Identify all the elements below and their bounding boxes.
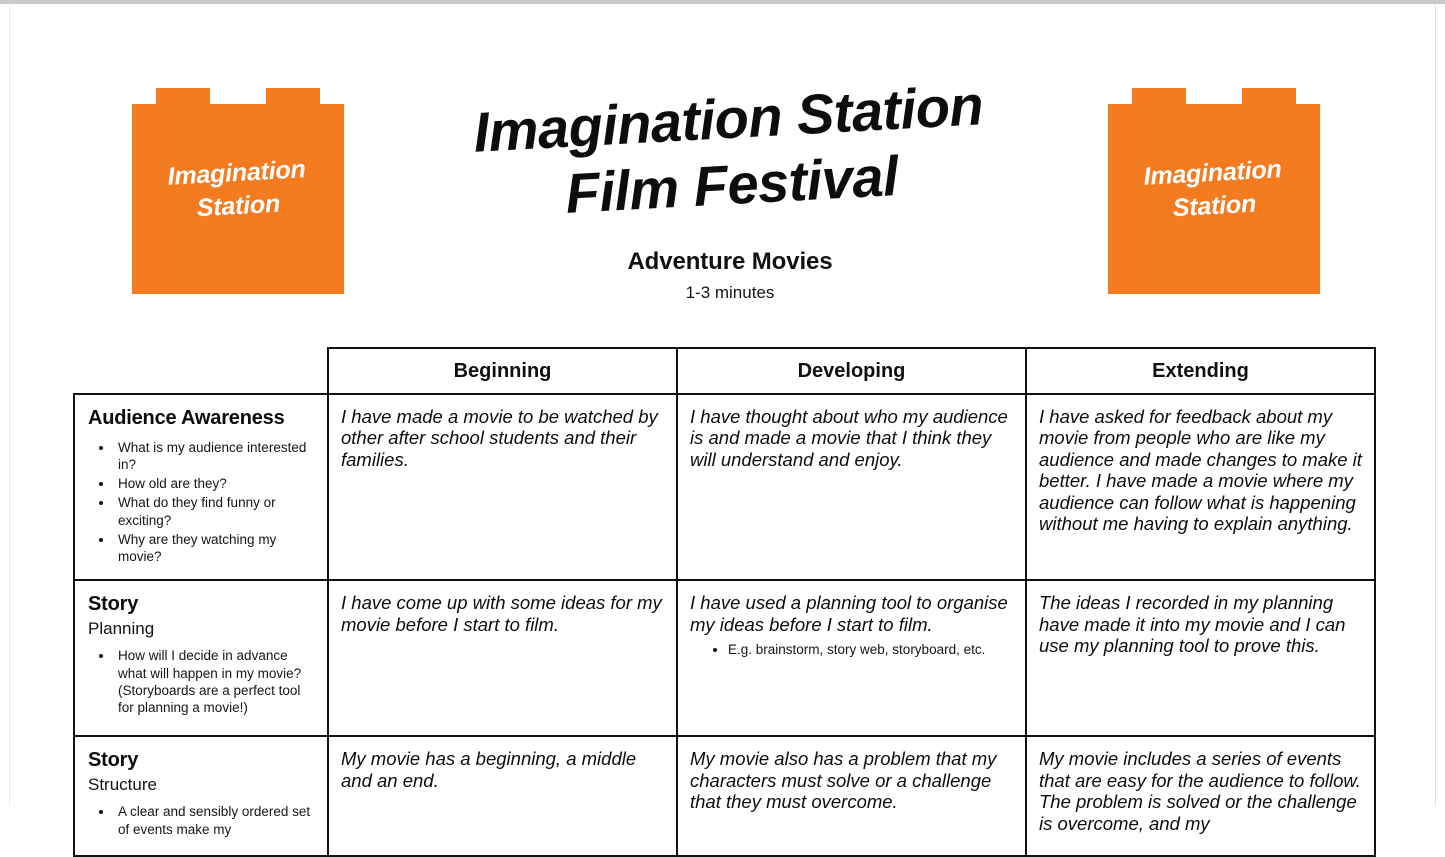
table-row: Audience Awareness What is my audience i… [74, 394, 1375, 580]
logo-right: Imagination Station [1108, 88, 1320, 294]
cell-extending: The ideas I recorded in my planning have… [1026, 580, 1375, 736]
criteria-title: Story [88, 593, 317, 617]
brick-body: Imagination Station [1108, 104, 1320, 294]
level-text: My movie also has a problem that my char… [690, 748, 1013, 812]
level-point-list: E.g. brainstorm, story web, storyboard, … [690, 641, 1013, 659]
table-row: Story Structure A clear and sensibly ord… [74, 736, 1375, 856]
table-row: Story Planning How will I decide in adva… [74, 580, 1375, 736]
page-sheet: Imagination Station Imagination Station … [9, 4, 1436, 806]
level-text: I have used a planning tool to organise … [690, 592, 1013, 635]
cell-developing: I have used a planning tool to organise … [677, 580, 1026, 736]
cell-beginning: My movie has a beginning, a middle and a… [328, 736, 677, 856]
brick-stud-icon [266, 88, 320, 105]
brick-stud-icon [1242, 88, 1296, 105]
criteria-cell-story-structure: Story Structure A clear and sensibly ord… [74, 736, 328, 856]
cell-extending: My movie includes a series of events tha… [1026, 736, 1375, 856]
level-text: My movie has a beginning, a middle and a… [341, 748, 664, 791]
level-text: My movie includes a series of events tha… [1039, 748, 1362, 834]
brick-stud-icon [156, 88, 210, 105]
brick-studs [132, 88, 344, 104]
criteria-subtitle: Planning [88, 619, 317, 639]
cell-extending: I have asked for feedback about my movie… [1026, 394, 1375, 580]
page-title: Imagination Station Film Festival [357, 66, 1103, 238]
logo-right-label: Imagination Station [1143, 153, 1286, 245]
column-header-beginning: Beginning [328, 348, 677, 394]
criteria-point: Why are they watching my movie? [114, 531, 317, 566]
criteria-point: How will I decide in advance what will h… [114, 647, 317, 716]
cell-developing: I have thought about who my audience is … [677, 394, 1026, 580]
criteria-cell-audience-awareness: Audience Awareness What is my audience i… [74, 394, 328, 580]
level-text: The ideas I recorded in my planning have… [1039, 592, 1362, 656]
level-point: E.g. brainstorm, story web, storyboard, … [728, 641, 1013, 659]
rubric-table: Beginning Developing Extending Audience … [73, 347, 1376, 857]
level-text: I have come up with some ideas for my mo… [341, 592, 664, 635]
document-header: Imagination Station Imagination Station … [10, 4, 1437, 334]
criteria-title: Audience Awareness [88, 407, 317, 431]
document-page: Imagination Station Imagination Station … [0, 0, 1445, 806]
criteria-point: What is my audience interested in? [114, 439, 317, 474]
title-block: Imagination Station Film Festival Advent… [360, 86, 1100, 303]
column-header-extending: Extending [1026, 348, 1375, 394]
brick-body: Imagination Station [132, 104, 344, 294]
logo-left-label: Imagination Station [167, 153, 310, 245]
rubric-header-row: Beginning Developing Extending [74, 348, 1375, 394]
criteria-point: What do they find funny or exciting? [114, 494, 317, 529]
brick-studs [1108, 88, 1320, 104]
level-text: I have made a movie to be watched by oth… [341, 406, 664, 470]
logo-left: Imagination Station [132, 88, 344, 294]
criteria-point-list: What is my audience interested in? How o… [88, 439, 317, 566]
cell-beginning: I have come up with some ideas for my mo… [328, 580, 677, 736]
duration-label: 1-3 minutes [360, 276, 1100, 303]
cell-beginning: I have made a movie to be watched by oth… [328, 394, 677, 580]
criteria-point: How old are they? [114, 475, 317, 492]
criteria-cell-story-planning: Story Planning How will I decide in adva… [74, 580, 328, 736]
rubric-corner-blank [74, 348, 328, 394]
level-text: I have thought about who my audience is … [690, 406, 1013, 470]
criteria-subtitle: Structure [88, 775, 317, 795]
level-text: I have asked for feedback about my movie… [1039, 406, 1362, 535]
column-header-developing: Developing [677, 348, 1026, 394]
criteria-point-list: How will I decide in advance what will h… [88, 647, 317, 716]
criteria-title: Story [88, 749, 317, 773]
brick-stud-icon [1132, 88, 1186, 105]
cell-developing: My movie also has a problem that my char… [677, 736, 1026, 856]
criteria-point-list: A clear and sensibly ordered set of even… [88, 803, 317, 838]
criteria-point: A clear and sensibly ordered set of even… [114, 803, 317, 838]
